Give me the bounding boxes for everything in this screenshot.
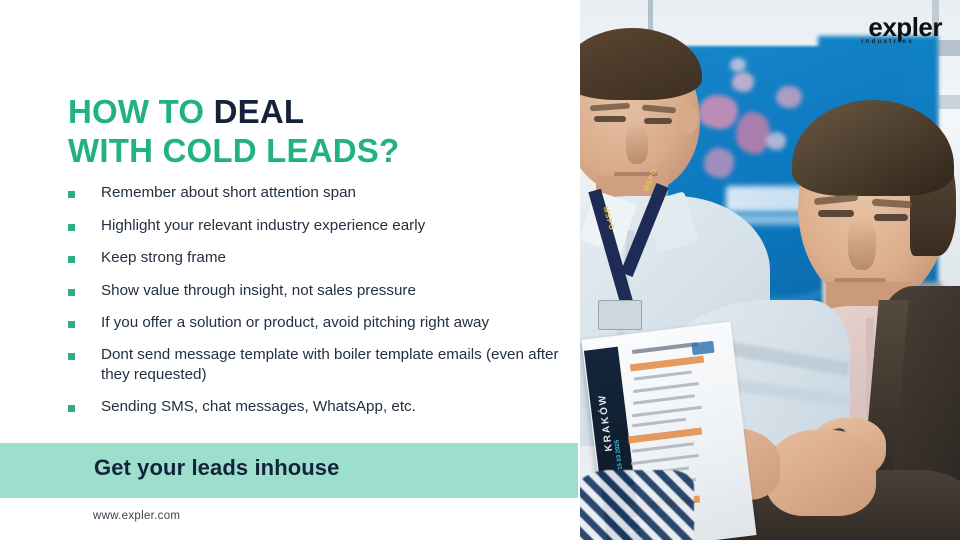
- photo-person-left-ear: [678, 104, 698, 134]
- list-item-label: Dont send message template with boiler t…: [101, 345, 568, 386]
- bullet-square-icon: [68, 405, 75, 412]
- brand-logo-subtitle: industries: [861, 39, 914, 45]
- photo-checkered-sleeve: [580, 470, 694, 540]
- bullet-square-icon: [68, 289, 75, 296]
- bullet-square-icon: [68, 224, 75, 231]
- list-item-label: Highlight your relevant industry experie…: [101, 216, 425, 237]
- photo-backdrop-map-shape: [732, 72, 754, 92]
- list-item-label: If you offer a solution or product, avoi…: [101, 313, 489, 334]
- photo-backdrop-map-shape: [736, 112, 770, 154]
- list-item-label: Remember about short attention span: [101, 183, 356, 204]
- bullet-square-icon: [68, 321, 75, 328]
- website-url: www.expler.com: [93, 510, 180, 522]
- photo-backdrop-map-shape: [704, 148, 734, 178]
- photo-backdrop-map-shape: [698, 95, 738, 129]
- headline-line1-dark: DEAL: [214, 93, 305, 130]
- photo-backdrop-map-shape: [766, 132, 786, 150]
- brand-logo: expler industries: [861, 14, 942, 45]
- photo-person-right-nose: [848, 218, 876, 270]
- list-item: Sending SMS, chat messages, WhatsApp, et…: [68, 397, 568, 418]
- photo-person-left-eye: [644, 118, 672, 124]
- list-item: Dont send message template with boiler t…: [68, 345, 568, 386]
- photo-person-left-eye: [594, 116, 626, 122]
- content-column: HOW TO DEAL WITH COLD LEADS? Remember ab…: [0, 0, 580, 540]
- photo-person-left-nose: [626, 124, 648, 164]
- slide: HOW TO DEAL WITH COLD LEADS? Remember ab…: [0, 0, 960, 540]
- callout-band-label: Get your leads inhouse: [94, 455, 339, 481]
- photo-lanyard-badge: [598, 300, 642, 330]
- photo-person-right-eye: [874, 214, 908, 221]
- hero-photo: MSPO MSPO KRAKÓW 15 03 2025: [580, 0, 960, 540]
- list-item-label: Keep strong frame: [101, 248, 226, 269]
- page-title: HOW TO DEAL WITH COLD LEADS?: [68, 92, 568, 170]
- bullet-square-icon: [68, 256, 75, 263]
- photo-person-right-eye: [818, 210, 854, 217]
- bullet-list: Remember about short attention span High…: [68, 183, 568, 429]
- list-item-label: Show value through insight, not sales pr…: [101, 281, 416, 302]
- headline-line1-teal: HOW TO: [68, 93, 214, 130]
- photo-hand: [766, 430, 876, 516]
- list-item: Highlight your relevant industry experie…: [68, 216, 568, 237]
- list-item: If you offer a solution or product, avoi…: [68, 313, 568, 334]
- headline-line2: WITH COLD LEADS?: [68, 131, 568, 170]
- photo-backdrop-map-shape: [776, 86, 802, 108]
- list-item: Remember about short attention span: [68, 183, 568, 204]
- list-item-label: Sending SMS, chat messages, WhatsApp, et…: [101, 397, 416, 418]
- photo-backdrop-map-shape: [730, 58, 746, 72]
- bullet-square-icon: [68, 191, 75, 198]
- list-item: Keep strong frame: [68, 248, 568, 269]
- list-item: Show value through insight, not sales pr…: [68, 281, 568, 302]
- brand-logo-wordmark: expler: [861, 14, 942, 40]
- bullet-square-icon: [68, 353, 75, 360]
